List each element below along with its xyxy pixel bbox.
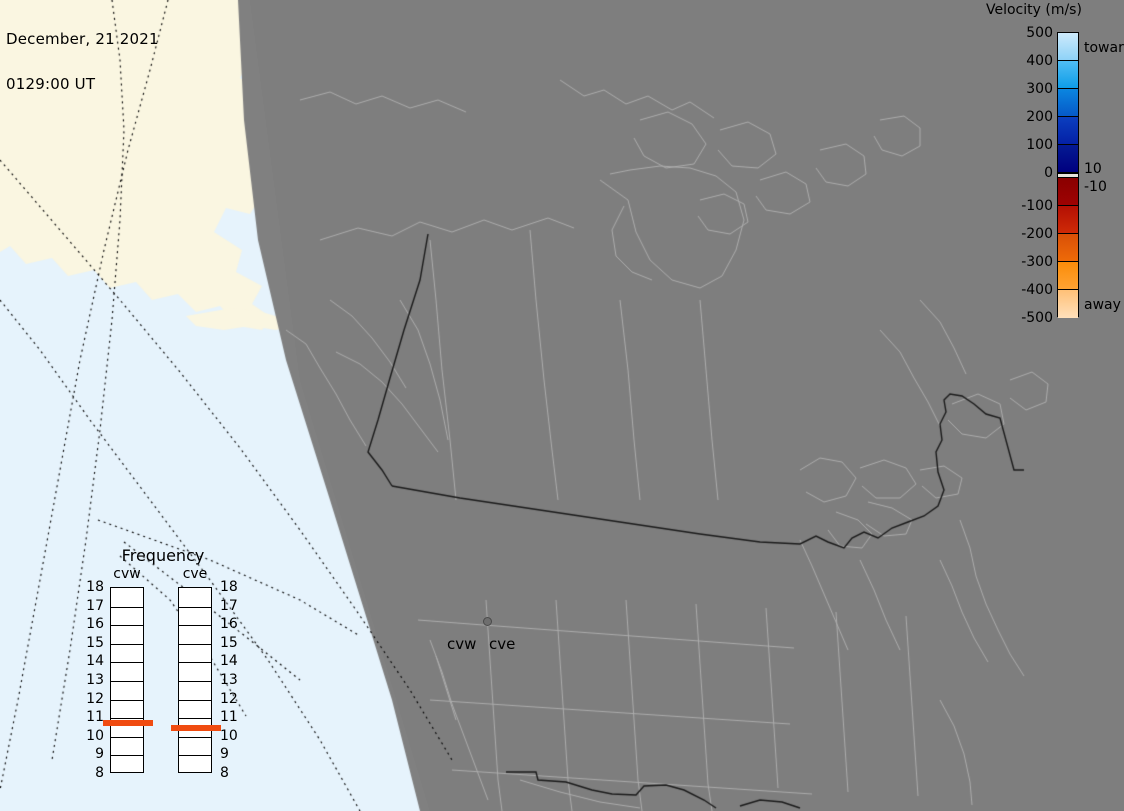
colorbar-tick-label: -100 [1021, 198, 1053, 214]
frequency-bar-track [178, 587, 212, 773]
frequency-axis-label: 15 [80, 635, 104, 651]
frequency-axis-label: 8 [220, 765, 229, 781]
superdarn-fan-plot: December, 21 2021 0129:00 UT Velocity (m… [0, 0, 1124, 811]
colorbar-segment [1058, 262, 1078, 290]
frequency-axis-label: 10 [220, 728, 238, 744]
colorbar-segment [1058, 234, 1078, 262]
frequency-tick-division [179, 644, 211, 645]
frequency-tick-division [179, 607, 211, 608]
timestamp-overlay: December, 21 2021 0129:00 UT [6, 2, 159, 122]
frequency-value-marker [103, 720, 153, 726]
frequency-axis-label: 14 [80, 653, 104, 669]
frequency-axis-label: 11 [80, 709, 104, 725]
frequency-tick-division [111, 662, 143, 663]
frequency-bar-name: cvw [104, 566, 150, 582]
frequency-tick-division [111, 607, 143, 608]
colorbar-tick-label: -500 [1021, 310, 1053, 326]
frequency-tick-division [179, 700, 211, 701]
colorbar-tick-label: 300 [1026, 81, 1053, 97]
frequency-legend: Frequency cvw18171615141312111098cve1817… [88, 546, 238, 796]
frequency-axis-label: 16 [80, 616, 104, 632]
frequency-axis-label: 14 [220, 653, 238, 669]
frequency-tick-division [111, 700, 143, 701]
frequency-axis-label: 9 [80, 746, 104, 762]
colorbar-gradient-box: 5004003002001000-100-200-300-400-500towa… [1057, 32, 1079, 317]
frequency-axis-label: 13 [80, 672, 104, 688]
frequency-tick-division [111, 644, 143, 645]
colorbar-segment [1058, 117, 1078, 145]
frequency-axis-label: 18 [220, 579, 238, 595]
colorbar-title: Velocity (m/s) [986, 2, 1124, 18]
colorbar-tick-label: 100 [1026, 137, 1053, 153]
radar-site-marker [483, 617, 492, 626]
frequency-tick-division [179, 681, 211, 682]
colorbar-segment [1058, 89, 1078, 117]
frequency-axis-label: 11 [220, 709, 238, 725]
colorbar-segment [1058, 61, 1078, 89]
colorbar-tick-label: 500 [1026, 25, 1053, 41]
frequency-axis-label: 8 [80, 765, 104, 781]
colorbar-segment [1058, 178, 1078, 206]
frequency-axis-label: 13 [220, 672, 238, 688]
frequency-axis-label: 17 [220, 598, 238, 614]
colorbar-segment [1058, 33, 1078, 61]
colorbar-segment [1058, 145, 1078, 173]
frequency-tick-division [179, 718, 211, 719]
colorbar-plus10-label: 10 [1084, 161, 1102, 177]
frequency-tick-division [179, 755, 211, 756]
colorbar-tick-label: 200 [1026, 109, 1053, 125]
timestamp-date: December, 21 2021 [6, 32, 159, 47]
colorbar-tick-label: 400 [1026, 53, 1053, 69]
colorbar-tick-label: -200 [1021, 226, 1053, 242]
frequency-value-marker [171, 725, 221, 731]
colorbar-tick-label: -400 [1021, 282, 1053, 298]
frequency-tick-division [111, 625, 143, 626]
frequency-axis-label: 10 [80, 728, 104, 744]
station-label-cve: cve [489, 635, 515, 653]
colorbar-minus10-label: -10 [1084, 179, 1107, 195]
frequency-legend-title: Frequency [108, 546, 218, 565]
frequency-tick-division [179, 662, 211, 663]
frequency-axis-label: 16 [220, 616, 238, 632]
colorbar-tick-label: 0 [1044, 165, 1053, 181]
frequency-tick-division [111, 681, 143, 682]
frequency-axis-label: 12 [80, 691, 104, 707]
frequency-tick-division [179, 737, 211, 738]
frequency-axis-label: 12 [220, 691, 238, 707]
timestamp-time: 0129:00 UT [6, 77, 159, 92]
colorbar-segment [1058, 290, 1078, 318]
frequency-axis-label: 15 [220, 635, 238, 651]
frequency-bar-track [110, 587, 144, 773]
frequency-axis-label: 18 [80, 579, 104, 595]
frequency-tick-division [111, 737, 143, 738]
frequency-axis-label: 17 [80, 598, 104, 614]
frequency-tick-division [111, 755, 143, 756]
frequency-axis-label: 9 [220, 746, 229, 762]
station-label-cvw: cvw [447, 635, 476, 653]
colorbar-toward-label: toward [1084, 40, 1124, 56]
colorbar-segment [1058, 206, 1078, 234]
frequency-tick-division [179, 625, 211, 626]
frequency-bar-name: cve [172, 566, 218, 582]
colorbar-away-label: away [1084, 297, 1121, 313]
colorbar-tick-label: -300 [1021, 254, 1053, 270]
velocity-colorbar: Velocity (m/s) 5004003002001000-100-200-… [986, 0, 1124, 330]
